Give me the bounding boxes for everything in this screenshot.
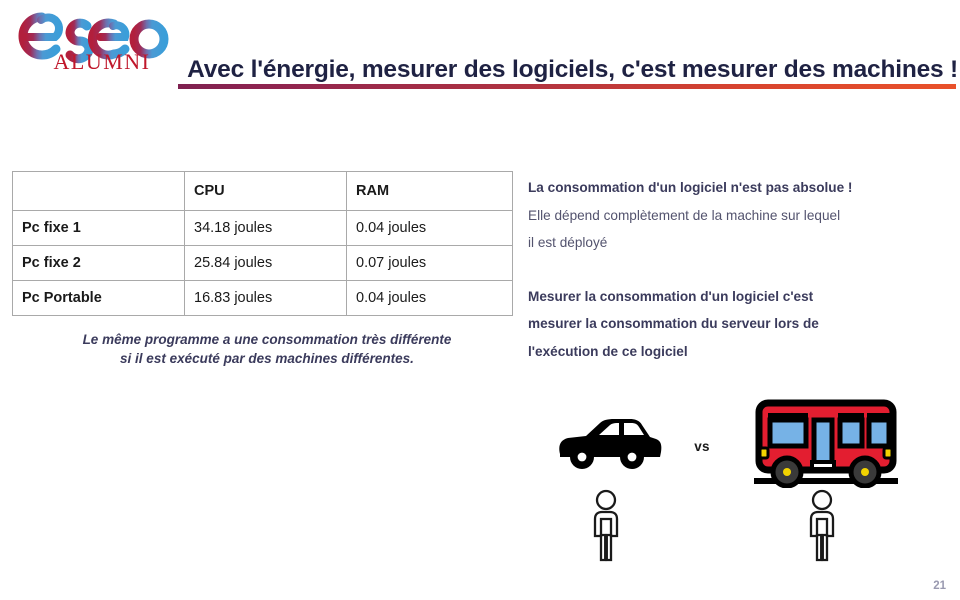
table-caption: Le même programme a une consommation trè…	[82, 330, 452, 368]
explanation-line-5: mesurer la consommation du serveur lors …	[528, 316, 819, 331]
vs-label: vs	[685, 439, 719, 454]
page-number: 21	[933, 580, 946, 592]
car-icon	[556, 416, 664, 470]
table-cell-cpu: 25.84 joules	[185, 246, 347, 281]
bus-icon	[752, 398, 900, 488]
explanation-line-2: Elle dépend complètement de la machine s…	[528, 208, 840, 223]
table-cell-machine: Pc Portable	[13, 281, 185, 316]
page-title: Avec l'énergie, mesurer des logiciels, c…	[176, 54, 958, 85]
explanation-line-4: Mesurer la consommation d'un logiciel c'…	[528, 289, 813, 304]
table-header-row: CPU RAM	[13, 172, 513, 211]
eseo-alumni-logo: ALUMNI	[14, 6, 172, 72]
table-cell-ram: 0.07 joules	[347, 246, 513, 281]
table-row: Pc Portable 16.83 joules 0.04 joules	[13, 281, 513, 316]
explanation-line-6: l'exécution de ce logiciel	[528, 344, 688, 359]
car-glyph	[556, 416, 664, 470]
explanation-paragraph-2: Mesurer la consommation d'un logiciel c'…	[528, 283, 940, 366]
title-underline-rule	[178, 84, 956, 89]
table-row: Pc fixe 1 34.18 joules 0.04 joules	[13, 211, 513, 246]
slide-canvas: ALUMNI Avec l'énergie, mesurer des logic…	[0, 0, 960, 600]
table-header-blank	[13, 172, 185, 211]
explanation-paragraph-1: La consommation d'un logiciel n'est pas …	[528, 174, 940, 257]
table-cell-ram: 0.04 joules	[347, 281, 513, 316]
measurements-table-wrapper: CPU RAM Pc fixe 1 34.18 joules 0.04 joul…	[12, 171, 512, 316]
person-glyph	[804, 489, 840, 563]
logo-subtitle-text: ALUMNI	[54, 49, 151, 72]
explanation-line-bold-1: La consommation d'un logiciel n'est pas …	[528, 180, 852, 195]
table-cell-machine: Pc fixe 1	[13, 211, 185, 246]
person-icon-left	[588, 489, 624, 563]
table-header-cpu: CPU	[185, 172, 347, 211]
table-cell-cpu: 34.18 joules	[185, 211, 347, 246]
measurements-table: CPU RAM Pc fixe 1 34.18 joules 0.04 joul…	[12, 171, 513, 316]
explanation-line-3: il est déployé	[528, 235, 607, 250]
table-header-ram: RAM	[347, 172, 513, 211]
person-glyph	[588, 489, 624, 563]
table-cell-machine: Pc fixe 2	[13, 246, 185, 281]
table-cell-ram: 0.04 joules	[347, 211, 513, 246]
logo-graphic: ALUMNI	[14, 6, 172, 72]
person-icon-right	[804, 489, 840, 563]
explanation-text-block: La consommation d'un logiciel n'est pas …	[528, 174, 940, 365]
bus-glyph	[752, 398, 900, 488]
table-row: Pc fixe 2 25.84 joules 0.07 joules	[13, 246, 513, 281]
slide-title-block: Avec l'énergie, mesurer des logiciels, c…	[176, 54, 958, 85]
paragraph-spacer	[528, 257, 940, 283]
table-cell-cpu: 16.83 joules	[185, 281, 347, 316]
